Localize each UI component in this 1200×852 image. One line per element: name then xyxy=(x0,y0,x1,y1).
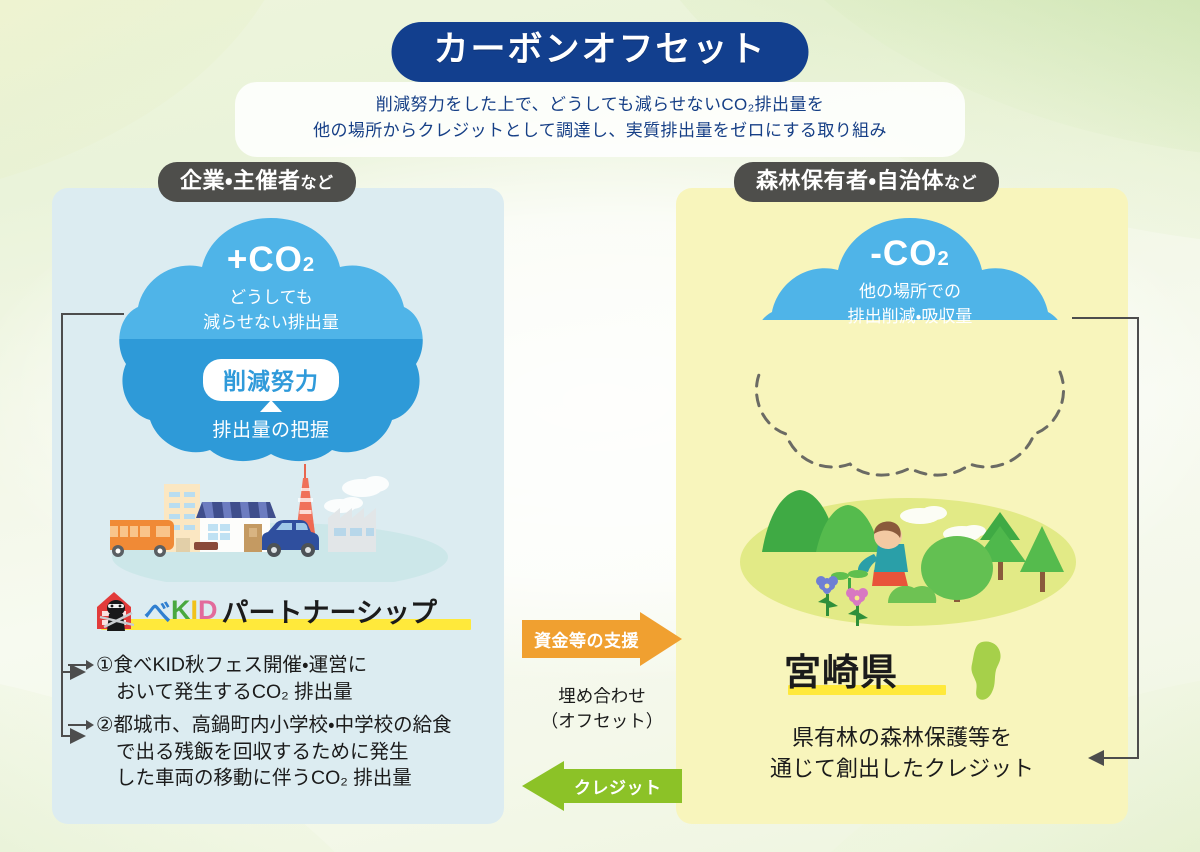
logo-char-i: I xyxy=(191,595,199,626)
offset-note-line-1: 埋め合わせ xyxy=(524,684,680,709)
bullet-2-text: ②都城市、高鍋町内小学校・中学校の給食 で出る残飯を回収するために発生 した車両… xyxy=(96,712,516,792)
emission-grasp-caption: 排出量の把握 xyxy=(212,415,329,442)
funding-support-arrow: 資金等の支援 xyxy=(522,612,682,666)
minus-co2-cloud: -CO2 他の場所での 排出削減・吸収量 xyxy=(750,212,1070,482)
left-panel-header: 企業・主催者など xyxy=(158,162,356,202)
subtitle-line-2: 他の場所からクレジットとして調達し、実質排出量をゼロにする取り組み xyxy=(235,118,965,144)
list-item: ①食べKID秋フェス開催・運営に おいて発生するCO₂ 排出量 xyxy=(96,652,516,705)
credit-description: 県有林の森林保護等を 通じて創出したクレジット xyxy=(676,722,1128,784)
arrow-right-icon xyxy=(68,720,94,730)
bullet-1-text: ①食べKID秋フェス開催・運営に おいて発生するCO₂ 排出量 xyxy=(96,652,516,705)
miyazaki-map-icon xyxy=(960,640,1006,702)
miyazaki-prefecture-row: 宮崎県 xyxy=(784,648,1044,700)
right-panel-header-text: 森林保有者・自治体 xyxy=(756,168,944,193)
tabekid-mascot-icon xyxy=(88,587,144,633)
logo-char-d: D xyxy=(198,595,218,626)
arrow-right-icon xyxy=(68,660,94,670)
reduction-effort-pill: 削減努力 xyxy=(203,359,339,401)
list-item: ②都城市、高鍋町内小学校・中学校の給食 で出る残飯を回収するために発生 した車両… xyxy=(96,712,516,792)
miyazaki-label: 宮崎県 xyxy=(784,648,898,698)
bullet-2-line-2: で出る残飯を回収するために発生 xyxy=(96,739,516,766)
page-title: カーボンオフセット xyxy=(391,22,808,82)
credit-arrow: クレジット xyxy=(522,761,682,811)
logo-rest-text: パートナーシップ xyxy=(222,591,437,630)
offset-note-line-2: （オフセット） xyxy=(524,709,680,734)
up-triangle-icon xyxy=(260,400,282,412)
subtitle-line-1: 削減努力をした上で、どうしても減らせないCO₂排出量を xyxy=(235,92,965,118)
bullet-2-line-1: ②都城市、高鍋町内小学校・中学校の給食 xyxy=(96,712,516,739)
left-emission-sources-list: ①食べKID秋フェス開催・運営に おいて発生するCO₂ 排出量 ②都城市、高鍋町… xyxy=(96,652,516,799)
logo-char-be: べ xyxy=(144,591,171,630)
offset-note: 埋め合わせ （オフセット） xyxy=(524,684,680,733)
bullet-1-line-2: おいて発生するCO₂ 排出量 xyxy=(96,679,516,706)
tabekid-partnership-logo: べ K I D パートナーシップ xyxy=(88,586,488,634)
right-panel-header-suffix: など xyxy=(944,175,977,192)
credit-description-line-2: 通じて創出したクレジット xyxy=(676,753,1128,784)
plus-co2-cloud: +CO2 どうしても 減らせない排出量 削減努力 排出量の把握 xyxy=(116,212,426,462)
forest-illustration xyxy=(738,470,1078,630)
bullet-2-line-3: した車両の移動に伴うCO₂ 排出量 xyxy=(96,765,516,792)
right-panel-header: 森林保有者・自治体など xyxy=(734,162,999,202)
subtitle-panel: 削減努力をした上で、どうしても減らせないCO₂排出量を 他の場所からクレジットと… xyxy=(235,82,965,157)
city-illustration xyxy=(110,462,450,582)
minus-co2-subtext: 他の場所での 排出削減・吸収量 xyxy=(750,280,1070,329)
credit-label: クレジット xyxy=(574,774,662,799)
infographic-canvas: カーボンオフセット 削減努力をした上で、どうしても減らせないCO₂排出量を 他の… xyxy=(0,0,1200,852)
plus-co2-label: +CO2 xyxy=(116,240,426,280)
minus-co2-label: -CO2 xyxy=(750,234,1070,274)
logo-text-row: べ K I D パートナーシップ xyxy=(88,586,488,634)
left-panel-header-suffix: など xyxy=(300,175,333,192)
bullet-1-line-1: ①食べKID秋フェス開催・運営に xyxy=(96,652,516,679)
credit-description-line-1: 県有林の森林保護等を xyxy=(676,722,1128,753)
left-panel-header-text: 企業・主催者 xyxy=(180,168,300,193)
plus-co2-subtext: どうしても 減らせない排出量 xyxy=(116,286,426,335)
logo-char-k: K xyxy=(171,595,191,626)
funding-support-label: 資金等の支援 xyxy=(534,627,639,652)
